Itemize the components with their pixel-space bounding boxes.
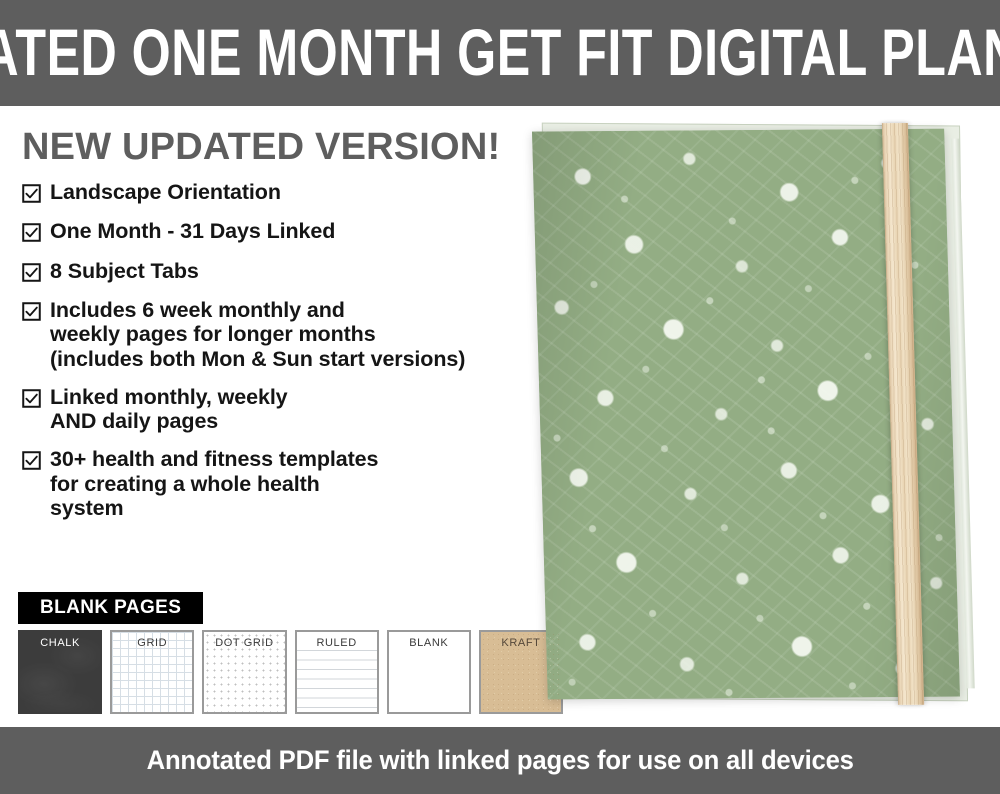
list-item: 8 Subject Tabs bbox=[22, 259, 560, 284]
planner-product-image bbox=[520, 106, 1000, 727]
list-item: One Month - 31 Days Linked bbox=[22, 219, 560, 244]
list-item: Includes 6 week monthly and weekly pages… bbox=[22, 298, 560, 371]
paper-swatch-label: BLANK bbox=[389, 637, 469, 649]
list-item: 30+ health and fitness templates for cre… bbox=[22, 447, 560, 520]
paper-swatch-grid: GRID bbox=[110, 630, 194, 714]
footer-banner: Annotated PDF file with linked pages for… bbox=[0, 727, 1000, 794]
checked-checkbox-icon bbox=[22, 263, 41, 282]
footer-text: Annotated PDF file with linked pages for… bbox=[146, 747, 853, 774]
paper-swatch-ruled: RULED bbox=[295, 630, 379, 714]
paper-swatch-dot-grid: DOT GRID bbox=[202, 630, 286, 714]
list-item-label: 30+ health and fitness templates for cre… bbox=[50, 447, 378, 520]
blank-pages-label: BLANK PAGES bbox=[18, 592, 203, 624]
blank-pages-section: BLANK PAGES CHALK GRID DOT GRID RULED BL… bbox=[18, 592, 563, 714]
page-title: UNDATED ONE MONTH GET FIT DIGITAL PLANNE… bbox=[0, 20, 1000, 86]
list-item-label: Landscape Orientation bbox=[50, 180, 281, 205]
checked-checkbox-icon bbox=[22, 389, 41, 408]
planner-book bbox=[532, 129, 968, 702]
paper-swatch-blank: BLANK bbox=[387, 630, 471, 714]
checked-checkbox-icon bbox=[22, 451, 41, 470]
list-item: Landscape Orientation bbox=[22, 180, 560, 205]
header-banner: UNDATED ONE MONTH GET FIT DIGITAL PLANNE… bbox=[0, 0, 1000, 106]
checked-checkbox-icon bbox=[22, 184, 41, 203]
paper-swatch-label: DOT GRID bbox=[204, 637, 284, 649]
paper-swatch-kraft: KRAFT bbox=[479, 630, 563, 714]
paper-swatch-row: CHALK GRID DOT GRID RULED BLANK KRAFT bbox=[18, 630, 563, 714]
paper-swatch-label: KRAFT bbox=[481, 637, 561, 649]
paper-swatch-label: RULED bbox=[297, 637, 377, 649]
list-item-label: 8 Subject Tabs bbox=[50, 259, 199, 284]
paper-swatch-label: CHALK bbox=[20, 637, 100, 649]
feature-list: Landscape Orientation One Month - 31 Day… bbox=[22, 180, 560, 520]
subheading: NEW UPDATED VERSION! bbox=[22, 128, 560, 166]
list-item-label: One Month - 31 Days Linked bbox=[50, 219, 335, 244]
paper-swatch-chalk: CHALK bbox=[18, 630, 102, 714]
checked-checkbox-icon bbox=[22, 223, 41, 242]
paper-swatch-label: GRID bbox=[112, 637, 192, 649]
list-item: Linked monthly, weekly AND daily pages bbox=[22, 385, 560, 434]
checked-checkbox-icon bbox=[22, 302, 41, 321]
list-item-label: Includes 6 week monthly and weekly pages… bbox=[50, 298, 465, 371]
product-listing-graphic: UNDATED ONE MONTH GET FIT DIGITAL PLANNE… bbox=[0, 0, 1000, 794]
list-item-label: Linked monthly, weekly AND daily pages bbox=[50, 385, 288, 434]
